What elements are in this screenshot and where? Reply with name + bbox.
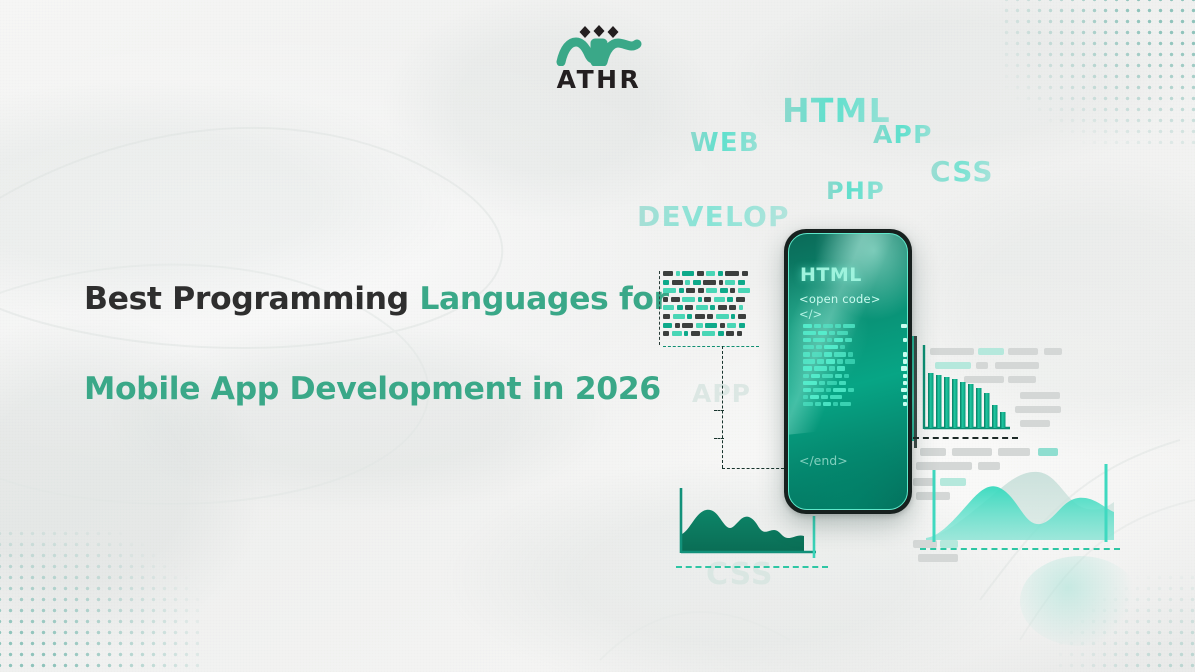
keyword-php: PHP [826, 179, 885, 203]
keyword-web: WEB [690, 130, 760, 156]
athr-logo-mark-icon [551, 22, 647, 66]
brand-logo[interactable]: ATHR [551, 22, 647, 92]
headline-line-1-accent: Languages for [419, 281, 668, 317]
keyword-app: APP [873, 122, 933, 147]
keyword-css: CSS [930, 158, 994, 186]
headline-line-1: Best Programming Languages for [84, 284, 644, 316]
halftone-dots-bottom-left [0, 528, 199, 672]
brand-name: ATHR [551, 67, 647, 92]
headline: Best Programming Languages for Mobile Ap… [84, 284, 644, 405]
keyword-develop: DEVELOP [637, 203, 790, 231]
halftone-dots-bottom-right [1055, 572, 1195, 672]
headline-line-1-dark: Best Programming [84, 281, 419, 317]
headline-line-2: Mobile App Development in 2026 [84, 374, 644, 406]
halftone-dots-top-right [1001, 0, 1195, 144]
